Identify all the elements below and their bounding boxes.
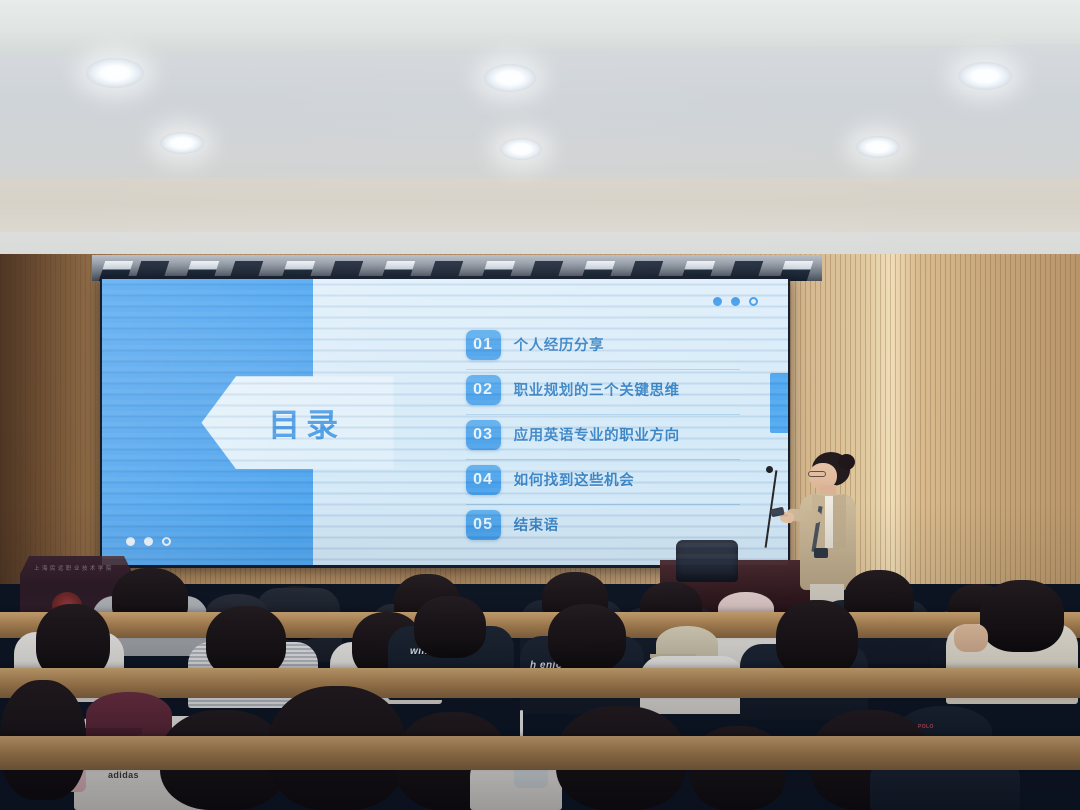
toc-item-label: 职业规划的三个关键思维 xyxy=(514,379,680,400)
toc-item: 02 职业规划的三个关键思维 xyxy=(466,369,740,410)
ceiling-lower-band xyxy=(0,178,1080,236)
toc-item-label: 应用英语专业的职业方向 xyxy=(514,424,680,445)
dot-filled xyxy=(144,537,153,546)
ceiling-light-3 xyxy=(958,62,1012,90)
ceiling-main xyxy=(0,44,1080,184)
toc-item-label: 如何找到这些机会 xyxy=(514,469,635,490)
wall-shadow-left xyxy=(0,254,112,584)
bench-middle xyxy=(0,668,1080,698)
audience-head xyxy=(776,600,858,678)
toc-number-badge: 02 xyxy=(466,375,501,405)
audience-head xyxy=(548,604,626,672)
dot-filled xyxy=(731,297,740,306)
slide-title: 目录 xyxy=(201,376,393,469)
ceiling-light-1 xyxy=(86,58,144,88)
dot-filled xyxy=(713,297,722,306)
audience-hand xyxy=(954,624,988,652)
projection-screen: 目录 01 个人经历分享 02 xyxy=(100,276,790,568)
slide-dots-bottom-left xyxy=(126,537,171,546)
microphone-head-icon xyxy=(766,466,773,473)
ceiling-light-2 xyxy=(484,64,536,92)
dot-outline xyxy=(162,537,171,546)
presenter-hair-bun xyxy=(838,454,855,470)
ceiling-light-4 xyxy=(160,132,204,154)
audience-head xyxy=(980,580,1064,652)
presenter-lapel-right xyxy=(833,494,846,550)
toc-number-badge: 04 xyxy=(466,465,501,495)
toc-number-badge: 01 xyxy=(466,330,501,360)
audience-head xyxy=(414,596,486,658)
dot-outline xyxy=(749,297,758,306)
toc-item-label: 个人经历分享 xyxy=(514,334,605,355)
toc-item: 05 结束语 xyxy=(466,504,740,545)
slide-right-accent-bar xyxy=(770,373,788,433)
bench-back xyxy=(0,612,1080,638)
presentation-slide: 目录 01 个人经历分享 02 xyxy=(102,279,788,565)
hoodie-text-adidas: adidas xyxy=(108,770,139,780)
toc-item-label: 结束语 xyxy=(514,514,559,535)
toc-item: 01 个人经历分享 xyxy=(466,325,740,365)
ceiling-light-6 xyxy=(856,136,900,158)
bench-front xyxy=(0,736,1080,770)
audience-area: winner h enjoy M.E.G. adidas BONA xyxy=(0,560,1080,810)
toc-item: 03 应用英语专业的职业方向 xyxy=(466,414,740,455)
toc-item: 04 如何找到这些机会 xyxy=(466,459,740,500)
presenter-device-pouch xyxy=(814,548,828,558)
toc-number-badge: 03 xyxy=(466,420,501,450)
slide-dots-top-right xyxy=(713,297,758,306)
ceiling-light-5 xyxy=(500,138,542,160)
slide-toc-list: 01 个人经历分享 02 职业规划的三个关键思维 03 应用英语专业的职业方向 … xyxy=(466,325,740,545)
lecture-hall-scene: 目录 01 个人经历分享 02 xyxy=(0,0,1080,810)
dot-filled xyxy=(126,537,135,546)
slide-title-chevron: 目录 xyxy=(201,376,393,469)
glasses-icon xyxy=(808,471,826,477)
toc-number-badge: 05 xyxy=(466,510,501,540)
